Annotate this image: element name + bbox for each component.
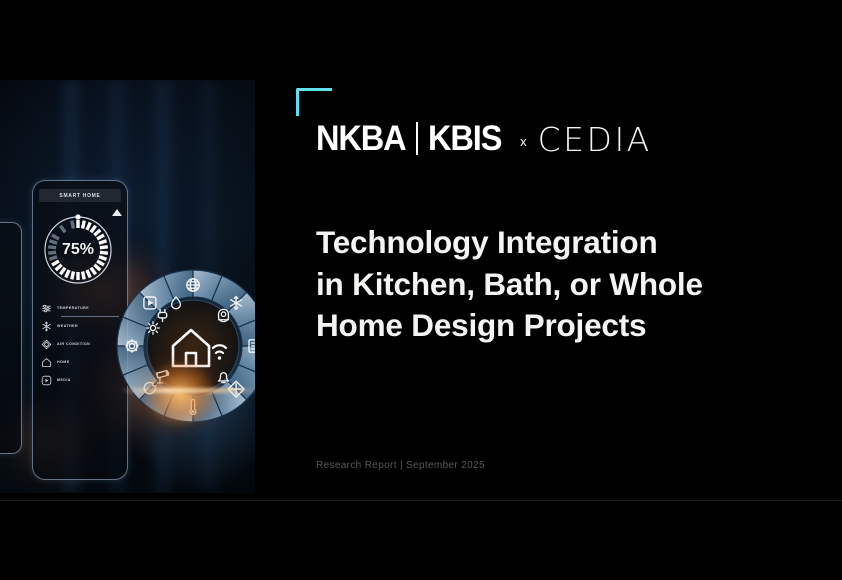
cover-content: NKBA KBIS x CEDIA Technology Integration… [0, 0, 842, 580]
logo-divider [416, 122, 418, 155]
report-meta: Research Report | September 2025 [316, 460, 485, 471]
report-cover-slide: SMART HOME [0, 0, 842, 580]
page-title: Technology Integration in Kitchen, Bath,… [316, 222, 816, 347]
divider [0, 500, 842, 501]
corner-bracket-icon [296, 88, 332, 116]
logo-cedia: CEDIA [538, 123, 652, 156]
brand-logo-lockup: NKBA KBIS x CEDIA [316, 118, 652, 158]
logo-nkba: NKBA [316, 121, 406, 156]
logo-conjunction: x [520, 134, 527, 149]
title-line-2: in Kitchen, Bath, or Whole [316, 264, 816, 306]
title-line-1: Technology Integration [316, 222, 816, 264]
logo-kbis: KBIS [428, 121, 501, 156]
title-line-3: Home Design Projects [316, 305, 816, 347]
